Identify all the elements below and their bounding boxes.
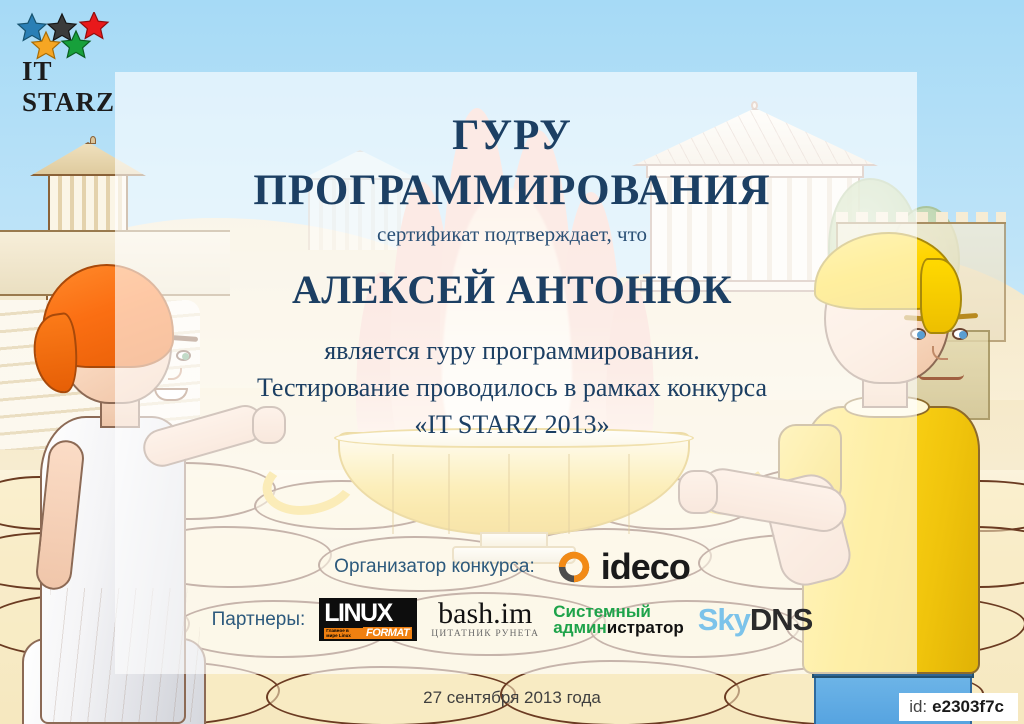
recipient-name: АЛЕКСЕЙ АНТОНЮК: [0, 266, 1024, 313]
organizer-label: Организатор конкурса:: [334, 556, 535, 578]
ideco-swirl-icon: [555, 548, 593, 586]
star-blue-icon: [18, 14, 46, 40]
it-starz-logo: IT STARZ: [14, 12, 118, 90]
skydns-logo[interactable]: SkyDNS: [698, 602, 813, 638]
title-line-2: ПРОГРАММИРОВАНИЯ: [0, 163, 1024, 218]
certificate-body: является гуру программирования. Тестиров…: [0, 333, 1024, 444]
linux-format-accent: FORMAT: [363, 627, 412, 639]
star-group-icon: [14, 12, 118, 60]
ideco-wordmark: ideco: [601, 546, 690, 588]
linux-format-main: LINUX: [324, 599, 392, 627]
star-black-icon: [48, 14, 76, 40]
partners-label: Партнеры:: [212, 609, 306, 631]
sysadmin-line-2-green: админ: [553, 618, 607, 637]
ideco-logo[interactable]: ideco: [555, 546, 690, 588]
id-value: e2303f7c: [932, 697, 1004, 716]
body-line-3: «IT STARZ 2013»: [0, 407, 1024, 444]
page-title: ГУРУ ПРОГРАММИРОВАНИЯ: [0, 108, 1024, 218]
certificate-content: IT STARZ ГУРУ ПРОГРАММИРОВАНИЯ сертифика…: [0, 0, 1024, 724]
title-line-1: ГУРУ: [0, 108, 1024, 163]
certificate-canvas: IT STARZ ГУРУ ПРОГРАММИРОВАНИЯ сертифика…: [0, 0, 1024, 724]
organizer-row: Организатор конкурса: ideco: [0, 546, 1024, 588]
certificate-date: 27 сентября 2013 года: [0, 688, 1024, 708]
bash-im-logo[interactable]: bash.im ЦИТАТНИК РУНЕТА: [431, 600, 539, 640]
linux-format-logo[interactable]: LINUX Главное в мире Linux FORMAT: [319, 598, 417, 641]
id-label: id:: [909, 697, 927, 716]
bash-im-tagline: ЦИТАТНИК РУНЕТА: [431, 629, 539, 639]
body-line-2: Тестирование проводилось в рамках конкур…: [0, 370, 1024, 407]
logo-stars: [14, 12, 118, 58]
sysadmin-line-2-black: истратор: [607, 618, 684, 637]
partners-row: Партнеры: LINUX Главное в мире Linux FOR…: [0, 598, 1024, 641]
sysadmin-logo[interactable]: Системный администратор: [553, 604, 684, 635]
bash-im-main: bash.im: [431, 600, 539, 629]
star-red-icon: [80, 12, 108, 38]
skydns-part-2: DNS: [750, 602, 812, 637]
certificate-id-badge: id:e2303f7c: [899, 693, 1018, 721]
certificate-subtitle: сертификат подтверждает, что: [0, 222, 1024, 247]
body-line-1: является гуру программирования.: [0, 333, 1024, 370]
linux-format-tagline: Главное в мире Linux: [324, 628, 363, 639]
skydns-part-1: Sky: [698, 602, 750, 637]
